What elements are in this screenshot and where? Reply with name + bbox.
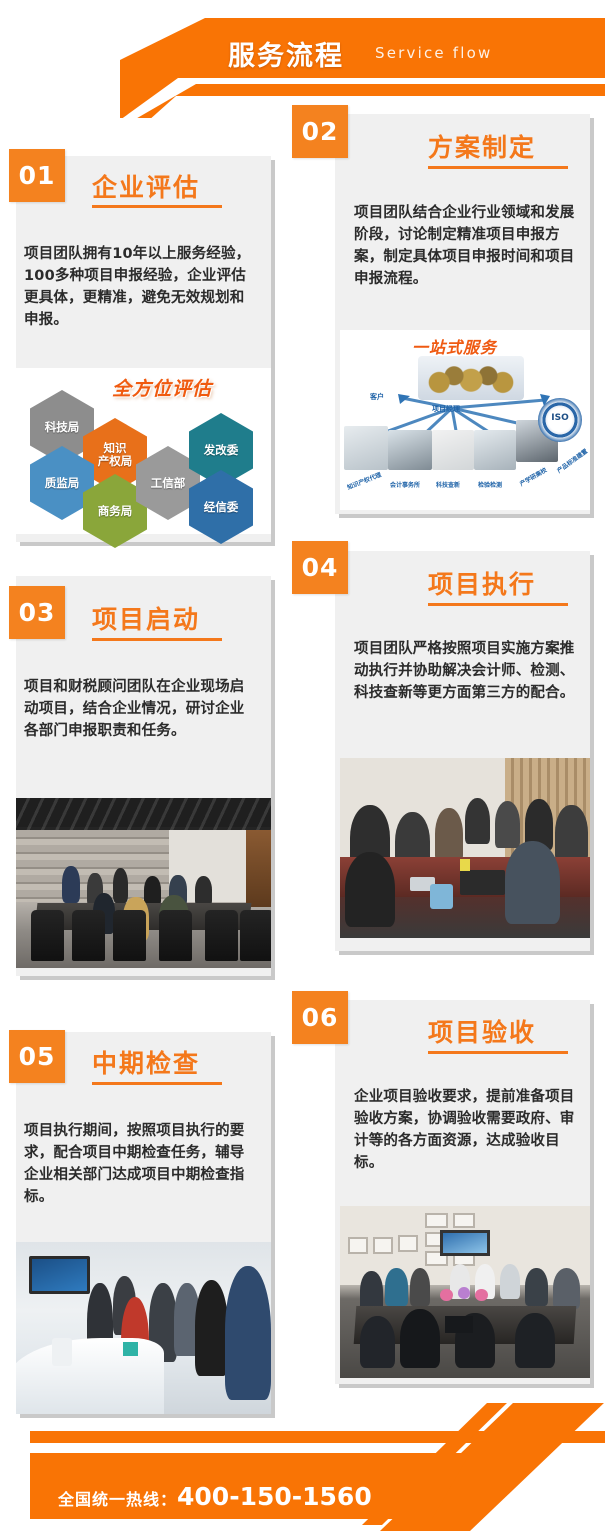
page-header: 服务流程 Service flow — [0, 0, 605, 118]
step-number-badge: 06 — [292, 991, 348, 1044]
title-underline — [428, 1051, 568, 1054]
photo-midterm-inspection — [16, 1242, 271, 1414]
step-title: 项目执行 — [428, 565, 536, 601]
hex-assessment-diagram: 全方位评估 科技局 知识产权局 质监局 商务局 工信部 发改委 经信委 — [16, 368, 271, 534]
one-stop-service-diagram: 一站式服务 客户 — [340, 330, 590, 510]
step-number-badge: 01 — [9, 149, 65, 202]
service-node-photo-3 — [474, 430, 516, 470]
title-underline — [428, 603, 568, 606]
step-title: 项目验收 — [428, 1013, 536, 1049]
step-description: 项目团队拥有10年以上服务经验，100多种项目申报经验，企业评估更具体，更精准，… — [24, 243, 252, 331]
hotline-label: 全国统一热线： — [58, 1490, 177, 1509]
service-node-photo-2 — [432, 430, 474, 470]
step-number-badge: 02 — [292, 105, 348, 158]
page-footer — [0, 1403, 605, 1538]
service-node-label-2: 科技查新 — [436, 480, 460, 489]
step-description: 项目团队结合企业行业领域和发展阶段，讨论制定精准项目申报方案，制定具体项目申报时… — [354, 202, 582, 290]
page-subtitle: Service flow — [375, 44, 493, 62]
iso-seal-icon: ISO — [538, 398, 582, 442]
title-underline — [92, 1082, 222, 1085]
step-description: 企业项目验收要求，提前准备项目验收方案，协调验收需要政府、审计等的各方面资源，达… — [354, 1086, 582, 1174]
step-number-badge: 05 — [9, 1030, 65, 1083]
service-node-photo-1 — [388, 430, 432, 470]
hotline-number: 400-150-1560 — [177, 1482, 372, 1511]
service-node-label-1: 会计事务所 — [390, 480, 420, 489]
step-number-badge: 04 — [292, 541, 348, 594]
hotline-text: 全国统一热线：400-150-1560 — [58, 1482, 372, 1511]
step-description: 项目团队严格按照项目实施方案推动执行并协助解决会计师、检测、科技查新等更方面第三… — [354, 638, 582, 704]
step-title: 方案制定 — [428, 128, 536, 164]
photo-execution-meeting — [340, 758, 590, 938]
title-underline — [92, 205, 222, 208]
service-node-photo-0 — [344, 426, 388, 470]
service-node-label-3: 检验检测 — [478, 480, 502, 489]
service-center-label: 项目经理 — [432, 404, 460, 414]
photo-acceptance-meeting — [340, 1206, 590, 1378]
step-description: 项目和财税顾问团队在企业现场启动项目，结合企业情况，研讨企业各部门申报职责和任务… — [24, 676, 252, 742]
title-underline — [92, 638, 222, 641]
service-client-label: 客户 — [370, 392, 384, 402]
step-title: 企业评估 — [92, 168, 200, 204]
hex-diagram-title: 全方位评估 — [112, 374, 212, 401]
page-title: 服务流程 — [228, 34, 344, 73]
step-number-badge: 03 — [9, 586, 65, 639]
title-underline — [428, 166, 568, 169]
step-title: 项目启动 — [92, 600, 200, 636]
step-description: 项目执行期间，按照项目执行的要求，配合项目中期检查任务，辅导企业相关部门达成项目… — [24, 1120, 252, 1208]
photo-kickoff-meeting — [16, 798, 271, 968]
footer-chevron-shape — [0, 1403, 605, 1538]
step-title: 中期检查 — [92, 1044, 200, 1080]
service-flow-poster: 服务流程 Service flow 01 企业评估 项目团队拥有10年以上服务经… — [0, 0, 605, 1538]
